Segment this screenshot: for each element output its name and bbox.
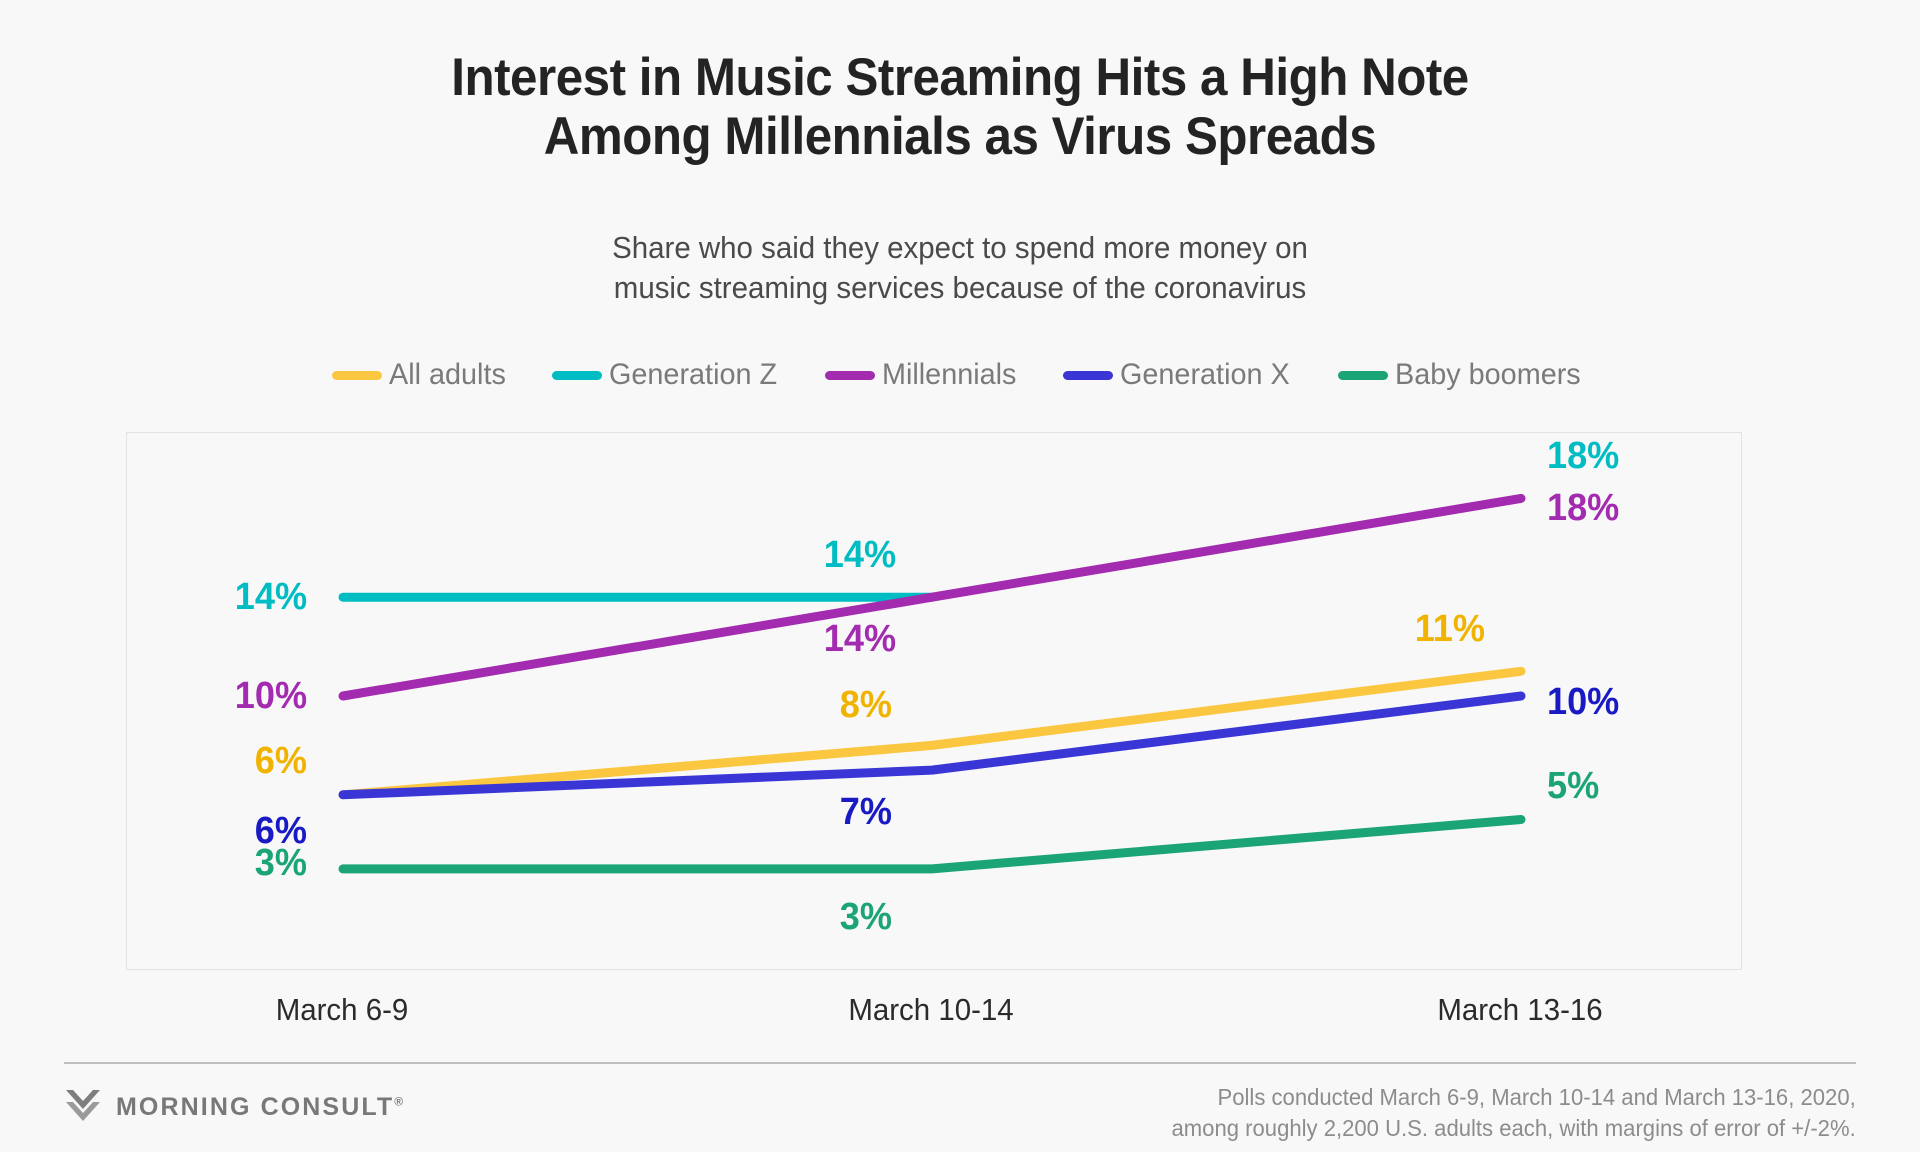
series-line <box>343 820 1521 869</box>
chevron-m-icon <box>66 1088 100 1127</box>
legend-swatch-icon <box>332 371 382 380</box>
data-point-label: 18% <box>1547 437 1619 475</box>
brand-word: MORNING CONSULT <box>116 1093 394 1121</box>
legend-swatch-icon <box>1063 371 1113 380</box>
brand-name: MORNING CONSULT® <box>116 1093 403 1122</box>
lines-svg <box>127 433 1743 971</box>
legend-swatch-icon <box>552 371 602 380</box>
x-axis-tick-label: March 13-16 <box>1437 992 1602 1028</box>
x-axis: March 6-9March 10-14March 13-16 <box>126 992 1742 1036</box>
legend-label: Generation X <box>1120 358 1290 392</box>
data-point-label: 7% <box>840 793 892 831</box>
series-line <box>343 671 1521 795</box>
data-point-label: 14% <box>824 536 896 574</box>
page-title: Interest in Music Streaming Hits a High … <box>67 48 1853 167</box>
morning-consult-logo: MORNING CONSULT® <box>66 1088 403 1127</box>
footer-divider <box>64 1062 1856 1064</box>
legend-item[interactable]: Millennials <box>825 358 1022 392</box>
x-axis-tick-label: March 10-14 <box>848 992 1013 1028</box>
data-point-label: 3% <box>255 844 307 882</box>
data-point-label: 6% <box>255 742 307 780</box>
data-point-label: 8% <box>840 686 892 724</box>
page-subtitle: Share who said they expect to spend more… <box>48 228 1872 307</box>
plot-area: 6%8%11%14%14%18%10%14%18%6%7%10%3%3%5% <box>126 432 1742 970</box>
registered-mark: ® <box>394 1095 403 1109</box>
data-point-label: 3% <box>840 898 892 936</box>
legend-label: Millennials <box>882 358 1016 392</box>
data-point-label: 14% <box>235 578 307 616</box>
legend-item[interactable]: All adults <box>332 358 511 392</box>
data-point-label: 5% <box>1547 767 1599 805</box>
x-axis-tick-label: March 6-9 <box>276 992 409 1028</box>
chart-page: Interest in Music Streaming Hits a High … <box>0 0 1920 1152</box>
legend-item[interactable]: Baby boomers <box>1338 358 1588 392</box>
legend-item[interactable]: Generation X <box>1063 358 1297 392</box>
chart-legend: All adultsGeneration ZMillennialsGenerat… <box>0 358 1920 392</box>
legend-swatch-icon <box>1338 371 1388 380</box>
legend-label: All adults <box>389 358 506 392</box>
legend-item[interactable]: Generation Z <box>552 358 784 392</box>
legend-swatch-icon <box>825 371 875 380</box>
source-note: Polls conducted March 6-9, March 10-14 a… <box>1172 1082 1856 1143</box>
data-point-label: 18% <box>1547 489 1619 527</box>
data-point-label: 11% <box>1415 610 1485 648</box>
legend-label: Baby boomers <box>1395 358 1581 392</box>
data-point-label: 10% <box>1547 683 1619 721</box>
legend-label: Generation Z <box>609 358 777 392</box>
data-point-label: 10% <box>235 677 307 715</box>
data-point-label: 14% <box>824 620 896 658</box>
